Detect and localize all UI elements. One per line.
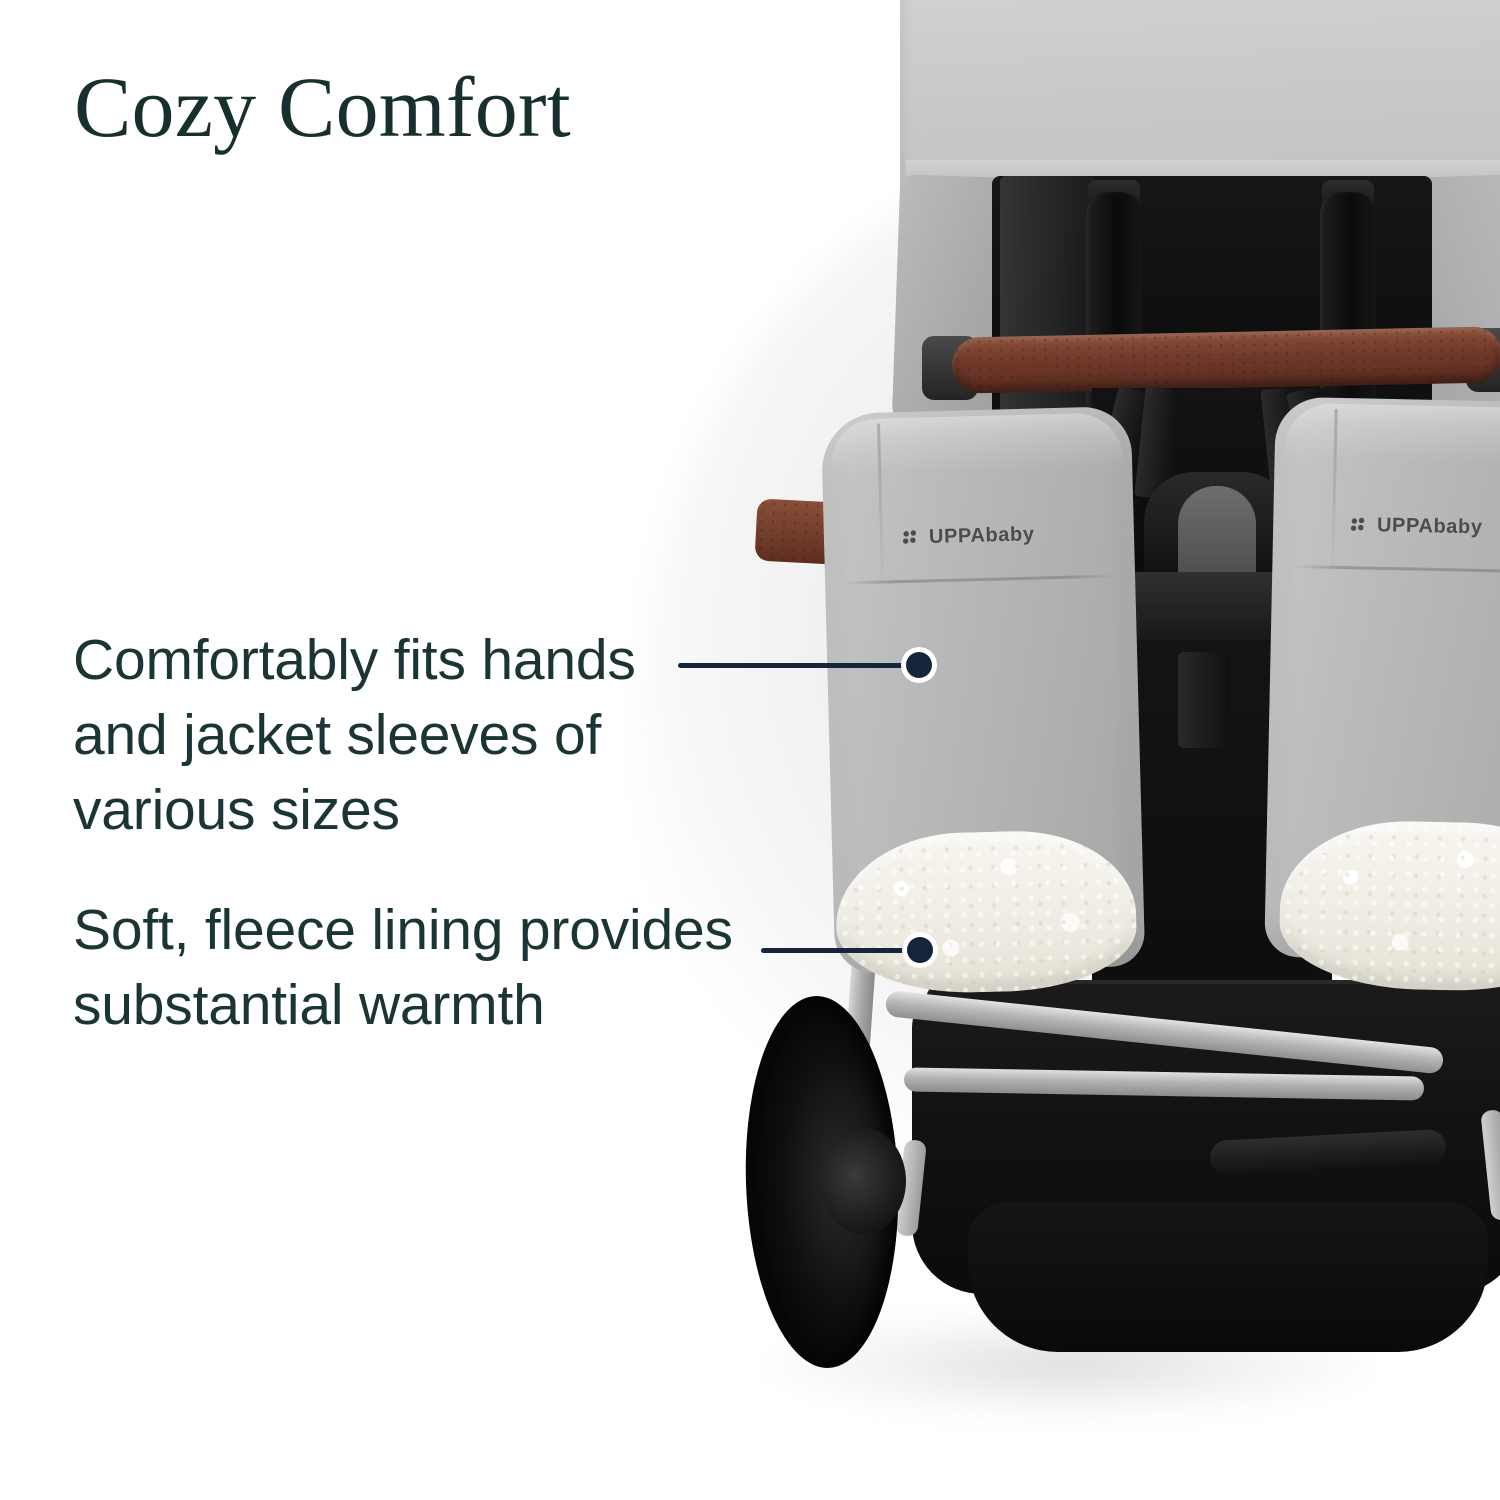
muff-quilt-highlight — [1284, 402, 1500, 464]
callout-line: substantial warmth — [73, 968, 733, 1043]
callout-line: Comfortably fits hands — [73, 623, 636, 698]
uppababy-logo-right: UPPAbaby — [1348, 514, 1483, 540]
storage-basket-base — [968, 1202, 1488, 1352]
callout-line: Soft, fleece lining provides — [73, 893, 733, 968]
callout-text-fleece: Soft, fleece lining provides substantial… — [73, 893, 733, 1043]
page-title: Cozy Comfort — [74, 64, 571, 150]
front-wheel-hub — [820, 1128, 906, 1234]
uppababy-logo-left: UPPAbaby — [900, 523, 1035, 550]
callout-text-fit: Comfortably fits hands and jacket sleeve… — [73, 623, 636, 848]
callout-leader-line-fit — [678, 652, 932, 678]
leader-endpoint-dot — [907, 937, 933, 963]
leader-endpoint-dot — [906, 652, 932, 678]
callout-line: various sizes — [73, 773, 636, 848]
leather-texture — [951, 326, 1500, 394]
pinwheel-icon — [900, 527, 922, 549]
harness-buckle-release — [1178, 486, 1256, 578]
callout-line: and jacket sleeves of — [73, 698, 636, 773]
brand-name: UPPAbaby — [929, 523, 1035, 549]
pinwheel-icon — [1348, 515, 1369, 536]
leather-bumper-bar — [951, 326, 1500, 394]
muff-quilt-highlight — [830, 412, 1123, 476]
muff-seam — [844, 574, 1117, 584]
leader-rule — [761, 948, 917, 953]
leader-rule — [678, 663, 916, 668]
brand-name: UPPAbaby — [1377, 514, 1483, 539]
product-image: UPPAbaby UPPAbaby — [700, 0, 1500, 1460]
crotch-strap — [1178, 652, 1230, 748]
muff-seam — [1292, 565, 1500, 574]
infographic-canvas: UPPAbaby UPPAbaby Cozy Comfort Comfortab… — [0, 0, 1500, 1500]
callout-leader-line-fleece — [761, 937, 933, 963]
